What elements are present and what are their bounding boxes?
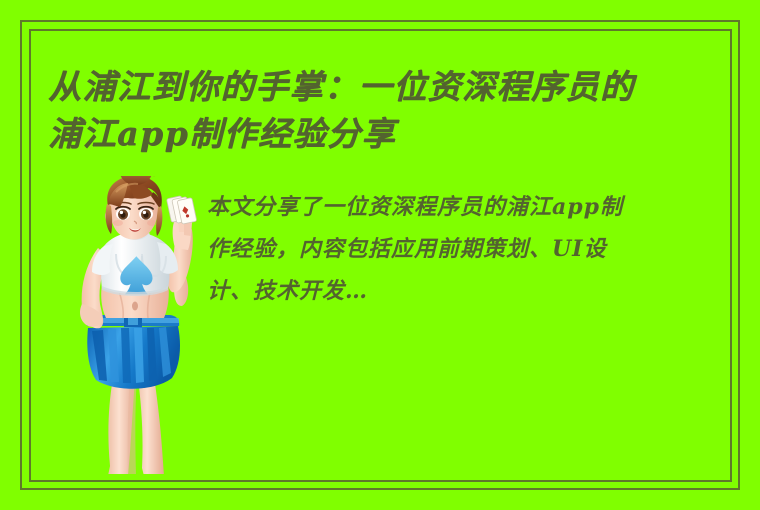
summary-line-3: 计、技术开发… (207, 270, 727, 312)
summary-line-1: 本文分享了一位资深程序员的浦江app制 (207, 186, 727, 228)
article-thumbnail-card: 从浦江到你的手掌：一位资深程序员的 浦江app制作经验分享 本文分享了一位资深程… (0, 0, 760, 510)
title-line-1: 从浦江到你的手掌：一位资深程序员的 (48, 63, 720, 110)
summary-line-2: 作经验，内容包括应用前期策划、UI设 (207, 228, 727, 270)
article-summary: 本文分享了一位资深程序员的浦江app制 作经验，内容包括应用前期策划、UI设 计… (207, 186, 727, 312)
illustration-bottom-mask (58, 474, 213, 510)
title-line-2: 浦江app制作经验分享 (48, 110, 720, 157)
page-title: 从浦江到你的手掌：一位资深程序员的 浦江app制作经验分享 (48, 63, 720, 157)
anime-girl-illustration (58, 176, 213, 476)
